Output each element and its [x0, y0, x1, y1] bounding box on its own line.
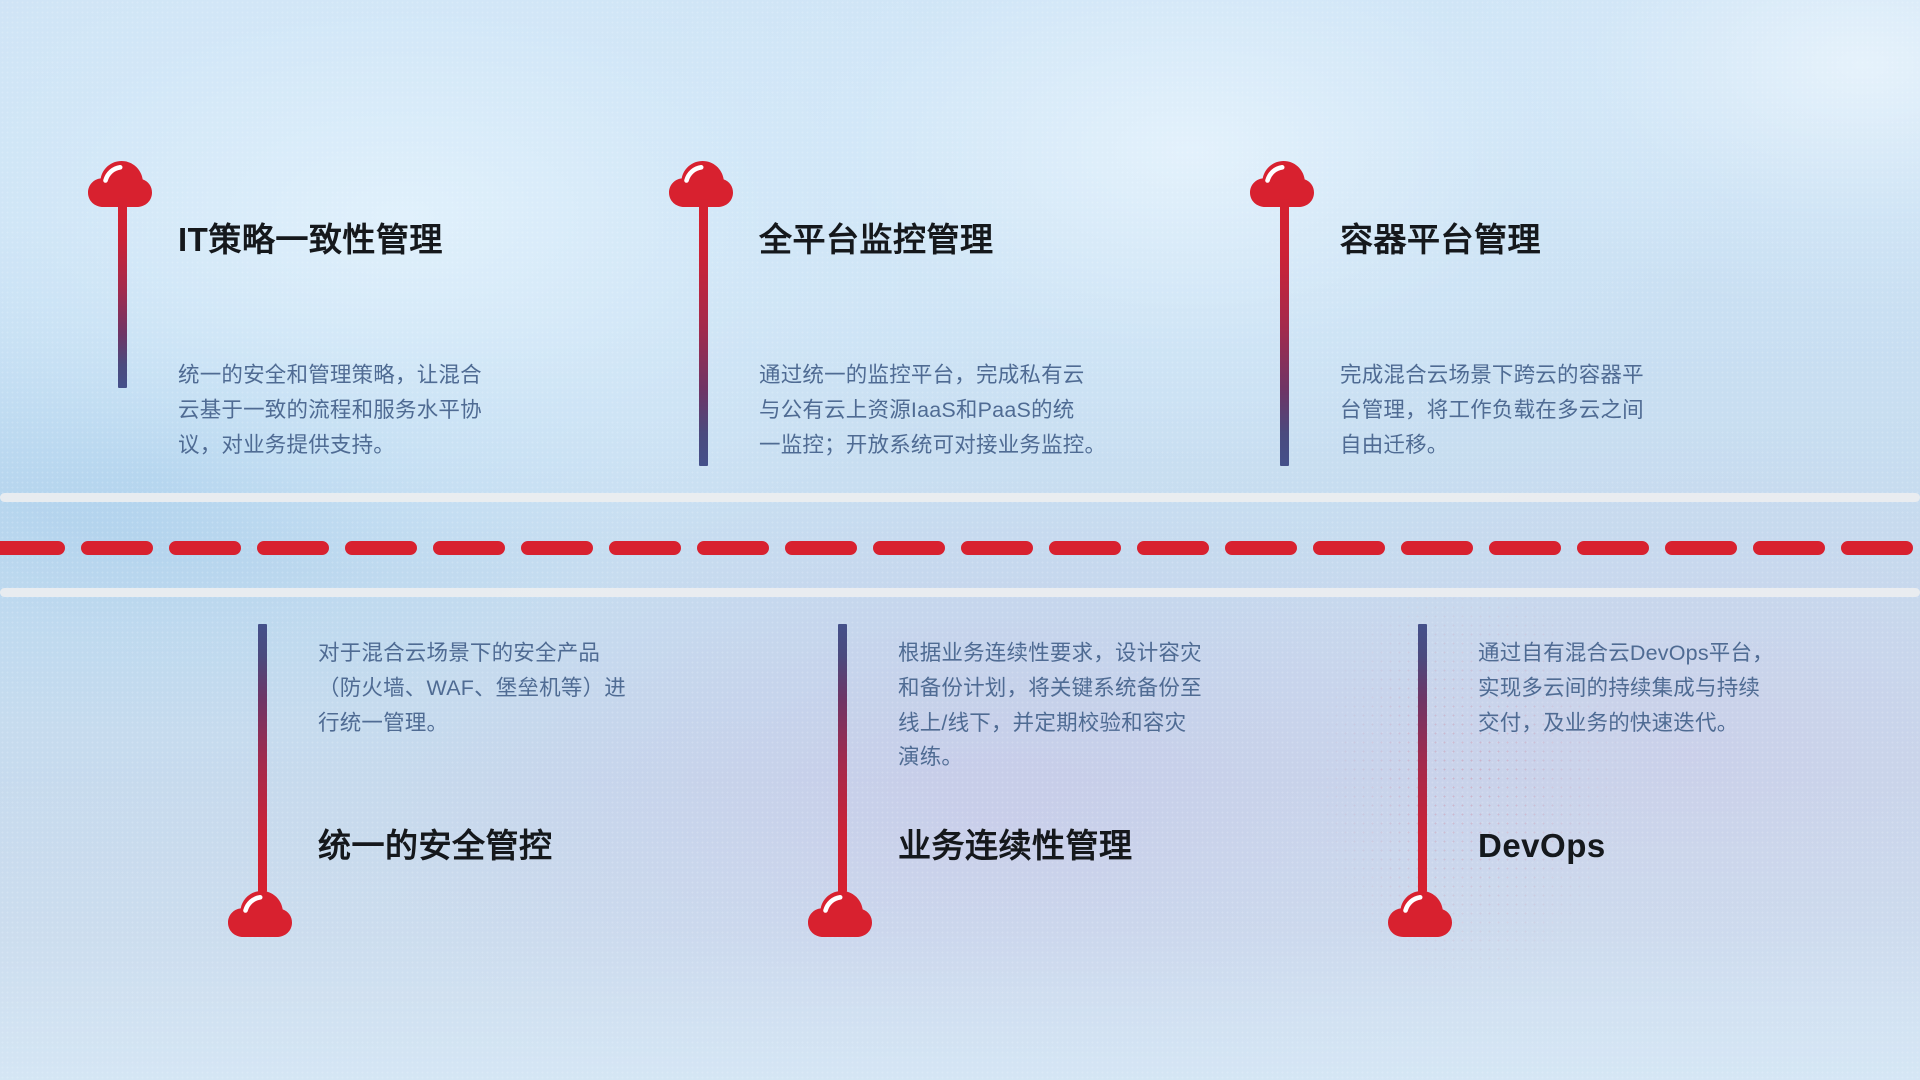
- top-body-2: 通过统一的监控平台，完成私有云 与公有云上资源IaaS和PaaS的统 一监控；开…: [759, 358, 1229, 462]
- connector-stem: [1280, 196, 1289, 466]
- top-heading-2: 全平台监控管理: [759, 220, 994, 260]
- divider-dashed-line: [0, 541, 1920, 555]
- bottom-heading-1: 统一的安全管控: [318, 826, 553, 866]
- bottom-heading-2: 业务连续性管理: [898, 826, 1133, 866]
- connector-stem: [118, 196, 127, 388]
- divider-rule-top: [0, 493, 1920, 502]
- bottom-heading-3: DevOps: [1478, 826, 1606, 866]
- top-heading-1: IT策略一致性管理: [178, 220, 443, 260]
- top-body-3: 完成混合云场景下跨云的容器平 台管理，将工作负载在多云之间 自由迁移。: [1340, 358, 1790, 462]
- cloud-icon: [1387, 890, 1453, 938]
- connector-stem: [838, 624, 847, 892]
- bottom-body-2: 根据业务连续性要求，设计容灾 和备份计划，将关键系统备份至 线上/线下，并定期校…: [898, 636, 1338, 775]
- infographic-canvas: IT策略一致性管理 统一的安全和管理策略，让混合 云基于一致的流程和服务水平协 …: [0, 0, 1920, 1080]
- top-body-1: 统一的安全和管理策略，让混合 云基于一致的流程和服务水平协 议，对业务提供支持。: [178, 358, 618, 462]
- top-heading-3: 容器平台管理: [1340, 220, 1541, 260]
- connector-stem: [1418, 624, 1427, 892]
- connector-stem: [699, 196, 708, 466]
- bottom-body-1: 对于混合云场景下的安全产品 （防火墙、WAF、堡垒机等）进 行统一管理。: [318, 636, 758, 740]
- cloud-icon: [227, 890, 293, 938]
- bottom-body-3: 通过自有混合云DevOps平台， 实现多云间的持续集成与持续 交付，及业务的快速…: [1478, 636, 1918, 740]
- connector-stem: [258, 624, 267, 892]
- cloud-icon: [807, 890, 873, 938]
- divider-rule-bottom: [0, 588, 1920, 597]
